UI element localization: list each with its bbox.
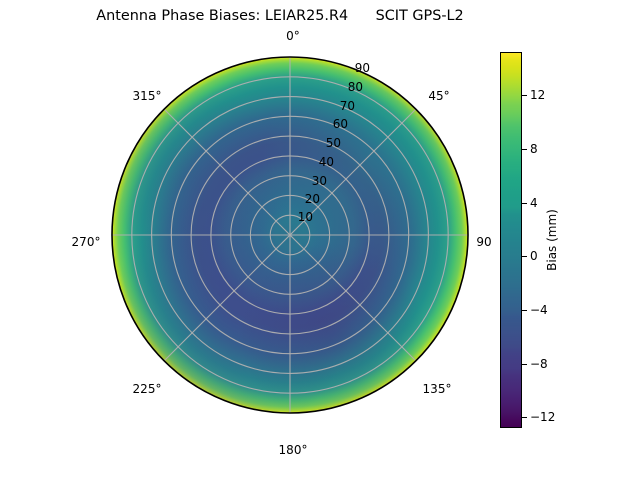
r-tick-30: 30 [267, 174, 327, 188]
theta-tick-135: 135° [397, 382, 477, 396]
theta-tick-315: 315° [107, 89, 187, 103]
polar-axes[interactable] [112, 57, 468, 413]
colorbar-tick-label: 0 [530, 249, 538, 263]
r-tick-40: 40 [274, 155, 334, 169]
colorbar-tick-mark [522, 203, 527, 204]
colorbar-tick-mark [522, 310, 527, 311]
colorbar[interactable] [500, 52, 522, 428]
colorbar-tick-mark [522, 95, 527, 96]
colorbar-tick-mark [522, 149, 527, 150]
theta-tick-180: 180° [253, 443, 333, 457]
r-tick-20: 20 [260, 192, 320, 206]
r-tick-10: 10 [253, 210, 313, 224]
colorbar-tick-label: 12 [530, 88, 545, 102]
colorbar-tick-mark [522, 364, 527, 365]
colorbar-tick-mark [522, 256, 527, 257]
colorbar-tick-label: 4 [530, 196, 538, 210]
colorbar-axis-label: Bias (mm) [545, 209, 559, 271]
r-tick-90: 90 [310, 61, 370, 75]
colorbar-tick-label: −12 [530, 410, 555, 424]
angular-gridlines [112, 57, 468, 413]
r-tick-60: 60 [288, 117, 348, 131]
polar-plot-svg [112, 57, 468, 413]
colorbar-tick-label: 8 [530, 142, 538, 156]
r-tick-50: 50 [281, 136, 341, 150]
page-title: Antenna Phase Biases: LEIAR25.R4 SCIT GP… [0, 8, 560, 24]
figure-canvas: Antenna Phase Biases: LEIAR25.R4 SCIT GP… [0, 0, 640, 480]
colorbar-gradient [500, 52, 522, 428]
theta-tick-45: 45° [399, 89, 479, 103]
colorbar-tick-mark [522, 417, 527, 418]
r-tick-80: 80 [303, 80, 363, 94]
theta-tick-270: 270° [46, 235, 126, 249]
colorbar-tick-label: −4 [530, 303, 548, 317]
theta-tick-0: 0° [253, 29, 333, 43]
r-tick-70: 70 [295, 99, 355, 113]
colorbar-tick-label: −8 [530, 357, 548, 371]
theta-tick-225: 225° [107, 382, 187, 396]
